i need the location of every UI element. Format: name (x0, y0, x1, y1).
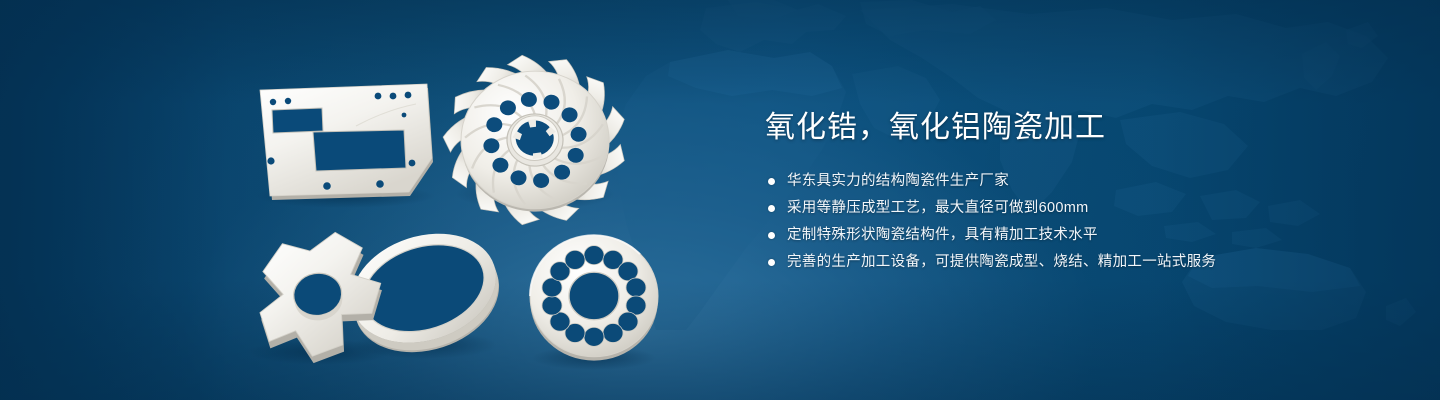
bullet-dot-icon (768, 259, 775, 266)
feature-list: 华东具实力的结构陶瓷件生产厂家 采用等静压成型工艺，最大直径可做到600mm 定… (765, 170, 1385, 273)
page-title: 氧化锆，氧化铝陶瓷加工 (765, 108, 1385, 148)
bullet-dot-icon (768, 178, 775, 185)
bullet-dot-icon (768, 205, 775, 212)
feature-text: 华东具实力的结构陶瓷件生产厂家 (787, 170, 1009, 192)
ceramic-impeller-disc-graphic (428, 41, 641, 239)
bullet-dot-icon (768, 232, 775, 239)
hero-banner: 氧化锆，氧化铝陶瓷加工 华东具实力的结构陶瓷件生产厂家 采用等静压成型工艺，最大… (0, 0, 1440, 400)
list-item: 定制特殊形状陶瓷结构件，具有精加工技术水平 (765, 224, 1385, 246)
ceramic-cross-plate-graphic (248, 226, 392, 371)
list-item: 华东具实力的结构陶瓷件生产厂家 (765, 170, 1385, 192)
ceramic-perforated-disc-graphic (530, 235, 658, 370)
ceramic-mounting-plate-graphic (255, 84, 435, 208)
feature-text: 采用等静压成型工艺，最大直径可做到600mm (787, 197, 1088, 219)
banner-copy: 氧化锆，氧化铝陶瓷加工 华东具实力的结构陶瓷件生产厂家 采用等静压成型工艺，最大… (765, 108, 1385, 278)
feature-text: 定制特殊形状陶瓷结构件，具有精加工技术水平 (787, 224, 1098, 246)
ceramic-products-image (0, 0, 720, 400)
list-item: 完善的生产加工设备，可提供陶瓷成型、烧结、精加工一站式服务 (765, 251, 1385, 273)
feature-text: 完善的生产加工设备，可提供陶瓷成型、烧结、精加工一站式服务 (787, 251, 1216, 273)
list-item: 采用等静压成型工艺，最大直径可做到600mm (765, 197, 1385, 219)
